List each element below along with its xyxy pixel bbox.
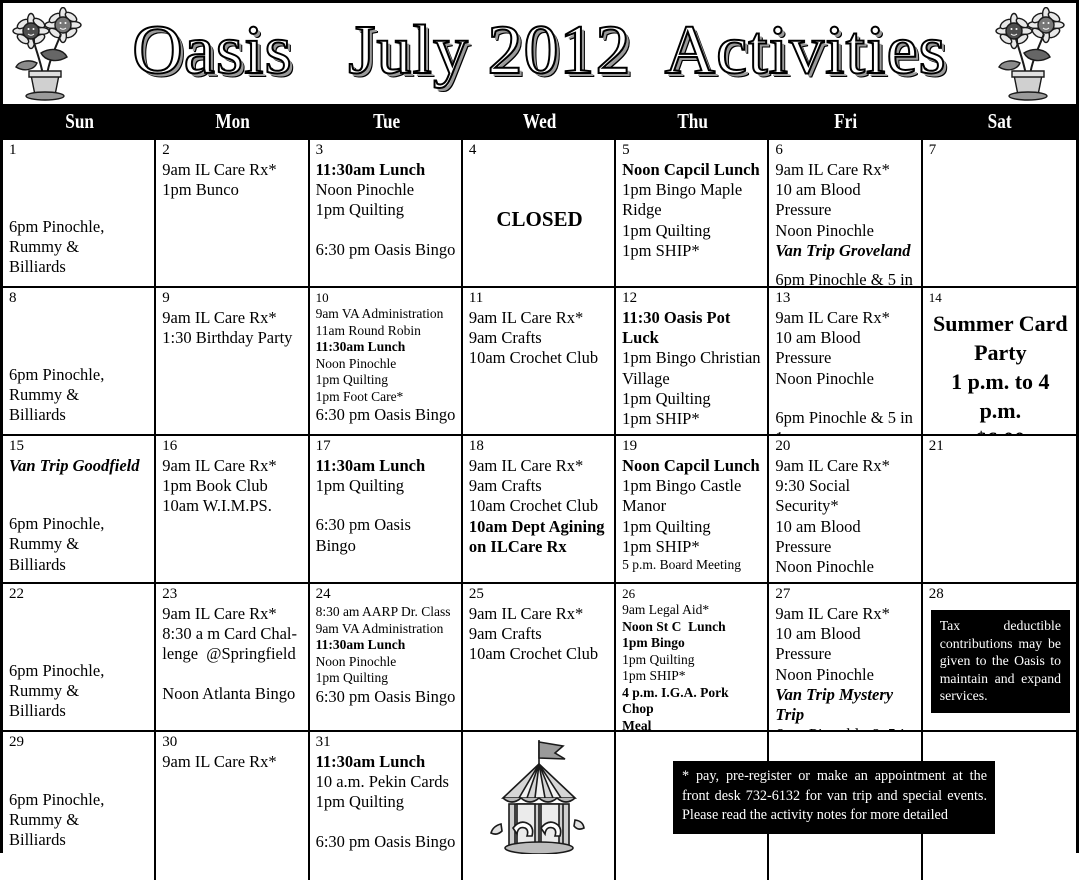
weekday-header-fri: Fri <box>783 104 909 138</box>
event-item: 1pm Quilting <box>622 389 763 409</box>
event-item: 9am IL Care Rx* <box>775 308 916 328</box>
calendar-day-cell-2[interactable]: 29am IL Care Rx*1pm Bunco <box>156 140 309 288</box>
day-number: 31 <box>316 734 457 751</box>
event-item: 6pm Pinochle, Rummy & <box>9 661 150 701</box>
event-item: 9am Legal Aid* <box>622 602 763 619</box>
event-item: 11:30am Lunch <box>316 339 457 356</box>
event-item: Billiards <box>9 701 150 721</box>
day-number: 28 <box>929 586 1072 603</box>
event-spacer <box>316 496 457 515</box>
event-item: Meal <box>622 718 763 733</box>
special-event-block: Summer CardParty1 p.m. to 4 p.m.$6.00 <box>929 309 1072 436</box>
event-list: Noon Capcil Lunch1pm Bingo MapleRidge1pm… <box>622 160 763 261</box>
event-item: Billiards <box>9 257 150 277</box>
day-number: 26 <box>622 586 763 601</box>
event-item: 9am IL Care Rx* <box>775 604 916 624</box>
event-item: 9am IL Care Rx* <box>775 456 916 476</box>
event-item: 11:30am Lunch <box>316 752 457 772</box>
event-list: 11:30 Oasis Pot Luck1pm Bingo ChristianV… <box>622 308 763 429</box>
event-item: 4 p.m. I.G.A. Pork Chop <box>622 685 763 718</box>
calendar-day-cell-21[interactable]: 21 <box>923 436 1076 584</box>
closed-label: CLOSED <box>469 207 610 232</box>
sunflower-icon-right <box>990 7 1072 101</box>
event-item: 9am IL Care Rx* <box>162 456 303 476</box>
event-item: 9am Crafts <box>469 328 610 348</box>
calendar-day-cell-empty[interactable] <box>463 732 616 880</box>
event-item: 1pm SHIP* <box>622 409 763 429</box>
event-spacer <box>9 752 150 771</box>
event-item: 1pm Quilting <box>316 476 457 496</box>
donation-note-box: Tax deductible contributions may be give… <box>931 610 1070 713</box>
calendar-day-cell-29[interactable]: 296pm Pinochle, Rummy &Billiards <box>3 732 156 880</box>
event-list: 9am IL Care Rx*10 am Blood PressureNoon … <box>775 160 916 288</box>
day-number: 4 <box>469 142 610 159</box>
event-item: Noon Pinochle <box>775 221 916 241</box>
calendar-day-cell-25[interactable]: 259am IL Care Rx*9am Crafts10am Crochet … <box>463 584 616 732</box>
event-list: 6pm Pinochle, Rummy &Billiards <box>9 752 150 851</box>
event-item: 1pm Quilting <box>622 517 763 537</box>
event-item: 6:30 pm Oasis <box>316 515 457 535</box>
event-spacer <box>9 308 150 327</box>
event-item: Noon St C Lunch <box>622 619 763 636</box>
day-number: 30 <box>162 734 303 751</box>
event-item: on ILCare Rx <box>469 537 610 557</box>
event-item: Noon Pinochle <box>316 654 457 671</box>
weekday-header-sat: Sat <box>936 104 1062 138</box>
day-number: 15 <box>9 438 150 455</box>
calendar-day-cell-4[interactable]: 4CLOSED <box>463 140 616 288</box>
event-item: 10 am Blood Pressure <box>775 328 916 368</box>
event-list: 11:30am Lunch1pm Quilting6:30 pm OasisBi… <box>316 456 457 556</box>
event-item: 1pm SHIP* <box>622 668 763 685</box>
weekday-header-thu: Thu <box>630 104 756 138</box>
calendar-day-cell-26[interactable]: 269am Legal Aid*Noon St C Lunch1pm Bingo… <box>616 584 769 732</box>
day-number: 16 <box>162 438 303 455</box>
day-number: 19 <box>622 438 763 455</box>
day-number: 10 <box>316 290 457 305</box>
event-list: 6pm Pinochle, Rummy &Billiards <box>9 160 150 278</box>
event-item: 6pm Pinochle, Rummy & <box>9 790 150 830</box>
event-list: 6pm Pinochle, Rummy &Billiards <box>9 308 150 426</box>
event-list: 9am IL Care Rx*9am Crafts10am Crochet Cl… <box>469 604 610 665</box>
event-item: 10am Crochet Club <box>469 348 610 368</box>
event-item: 1pm Bingo Christian <box>622 348 763 368</box>
event-item: 1pm Quilting <box>622 652 763 669</box>
calendar-day-cell-27[interactable]: 279am IL Care Rx*10 am Blood PressureNoo… <box>769 584 922 732</box>
event-item: 6pm Pinochle & 5 in 1 <box>775 725 916 732</box>
event-item: Noon Capcil Lunch <box>622 456 763 476</box>
event-item: 6pm Pinochle & 5 in 1 <box>775 270 916 288</box>
weekday-header-mon: Mon <box>170 104 296 138</box>
day-number: 5 <box>622 142 763 159</box>
event-item: 10 am Blood Pressure <box>775 180 916 220</box>
event-item: 6:30 pm Oasis Bingo <box>316 832 457 852</box>
special-event-line: 1 p.m. to 4 p.m. <box>929 367 1072 425</box>
event-item: 9am VA Administration <box>316 621 457 638</box>
event-list: 9am Legal Aid*Noon St C Lunch1pm Bingo1p… <box>622 602 763 732</box>
event-item: 1pm Bingo Maple <box>622 180 763 200</box>
event-item: 10am Crochet Club <box>469 496 610 516</box>
day-number: 12 <box>622 290 763 307</box>
calendar-day-cell-30[interactable]: 309am IL Care Rx* <box>156 732 309 880</box>
event-list: 9am IL Care Rx*1pm Book Club10am W.I.M.P… <box>162 456 303 517</box>
event-item: 9am Crafts <box>469 624 610 644</box>
event-spacer <box>9 346 150 365</box>
event-spacer <box>9 198 150 217</box>
calendar-day-cell-10[interactable]: 109am VA Administration11am Round Robin1… <box>310 288 463 436</box>
day-number: 25 <box>469 586 610 603</box>
event-spacer <box>9 623 150 642</box>
day-number: 18 <box>469 438 610 455</box>
calendar-day-cell-12[interactable]: 1211:30 Oasis Pot Luck1pm Bingo Christia… <box>616 288 769 436</box>
event-item: 10 am Blood Pressure <box>775 624 916 664</box>
calendar-day-cell-23[interactable]: 239am IL Care Rx*8:30 a m Card Chal-leng… <box>156 584 309 732</box>
event-item: 1pm Quilting <box>316 200 457 220</box>
event-spacer <box>316 813 457 832</box>
event-item: 11:30am Lunch <box>316 160 457 180</box>
event-item: 9am IL Care Rx* <box>469 456 610 476</box>
day-number: 1 <box>9 142 150 159</box>
calendar-banner: Oasis July 2012 Activities <box>3 3 1076 104</box>
event-item: 11am Round Robin <box>316 323 457 340</box>
event-item: Ridge <box>622 200 763 220</box>
event-item: 11:30am Lunch <box>316 456 457 476</box>
day-number: 20 <box>775 438 916 455</box>
calendar-day-cell-5[interactable]: 5Noon Capcil Lunch1pm Bingo MapleRidge1p… <box>616 140 769 288</box>
event-item: 1pm Bunco <box>162 180 303 200</box>
event-item: 8:30 am AARP Dr. Class <box>316 604 457 621</box>
event-spacer <box>9 642 150 661</box>
event-list: 9am IL Care Rx*9am Crafts10am Crochet Cl… <box>469 308 610 369</box>
event-item: Billiards <box>9 830 150 850</box>
event-item: Noon Pinochle <box>775 665 916 685</box>
event-item: 9am IL Care Rx* <box>469 604 610 624</box>
calendar-day-cell-11[interactable]: 119am IL Care Rx*9am Crafts10am Crochet … <box>463 288 616 436</box>
calendar-day-cell-9[interactable]: 99am IL Care Rx*1:30 Birthday Party <box>156 288 309 436</box>
event-list: 11:30am Lunch10 a.m. Pekin Cards1pm Quil… <box>316 752 457 852</box>
event-spacer <box>9 160 150 179</box>
event-spacer <box>9 604 150 623</box>
event-item: Bingo <box>316 536 457 556</box>
event-list: 9am IL Care Rx*9am Crafts10am Crochet Cl… <box>469 456 610 557</box>
calendar-day-cell-14[interactable]: 14Summer CardParty1 p.m. to 4 p.m.$6.00 <box>923 288 1076 436</box>
day-number: 2 <box>162 142 303 159</box>
event-spacer <box>9 179 150 198</box>
event-item: Van Trip Groveland <box>775 241 916 261</box>
event-item: 1pm Quilting <box>316 792 457 812</box>
event-item: 5 p.m. Board Meeting <box>622 557 763 574</box>
event-item: 9am IL Care Rx* <box>775 160 916 180</box>
event-item: 1pm SHIP* <box>622 537 763 557</box>
event-item: Billiards <box>9 405 150 425</box>
event-item: 9am IL Care Rx* <box>162 308 303 328</box>
event-spacer <box>316 221 457 240</box>
event-list: Noon Capcil Lunch1pm Bingo CastleManor1p… <box>622 456 763 574</box>
carousel-icon <box>479 736 599 854</box>
event-item: Van Trip Mystery Trip <box>775 685 916 725</box>
event-item: 1pm Quilting <box>622 221 763 241</box>
day-number: 11 <box>469 290 610 307</box>
event-item: 6pm Pinochle & 5 in 1 <box>775 408 916 436</box>
event-item: lenge @Springfield <box>162 644 303 664</box>
event-list: 9am IL Care Rx*8:30 a m Card Chal-lenge … <box>162 604 303 704</box>
calendar-day-cell-31[interactable]: 3111:30am Lunch10 a.m. Pekin Cards1pm Qu… <box>310 732 463 880</box>
calendar-day-cell-24[interactable]: 248:30 am AARP Dr. Class9am VA Administr… <box>310 584 463 732</box>
day-number: 6 <box>775 142 916 159</box>
day-number: 3 <box>316 142 457 159</box>
event-list: 8:30 am AARP Dr. Class9am VA Administrat… <box>316 604 457 707</box>
event-item: 11:30 Oasis Pot Luck <box>622 308 763 348</box>
event-item: 9am VA Administration <box>316 306 457 323</box>
event-item: Noon Pinochle <box>316 356 457 373</box>
calendar-day-cell-15[interactable]: 15Van Trip Goodfield6pm Pinochle, Rummy … <box>3 436 156 584</box>
day-number: 27 <box>775 586 916 603</box>
event-list: 9am IL Care Rx*10 am Blood PressureNoon … <box>775 308 916 436</box>
weekday-header-row: Sun Mon Tue Wed Thu Fri Sat <box>3 104 1076 138</box>
weekday-header-sun: Sun <box>17 104 143 138</box>
calendar-day-cell-19[interactable]: 19Noon Capcil Lunch1pm Bingo CastleManor… <box>616 436 769 584</box>
event-list: 9am IL Care Rx*9:30 Social Security*10 a… <box>775 456 916 584</box>
event-item: Van Trip Goodfield <box>9 456 150 476</box>
event-list: 9am IL Care Rx*1pm Bunco <box>162 160 303 200</box>
event-item: Manor <box>622 496 763 516</box>
event-spacer <box>9 495 150 514</box>
calendar-day-cell-28[interactable]: 28Tax deductible contributions may be gi… <box>923 584 1076 732</box>
event-item: 1pm Foot Care* <box>316 389 457 406</box>
day-number: 24 <box>316 586 457 603</box>
day-number: 14 <box>929 290 1072 305</box>
event-item: 10 a.m. Pekin Cards <box>316 772 457 792</box>
calendar-day-cell-13[interactable]: 139am IL Care Rx*10 am Blood PressureNoo… <box>769 288 922 436</box>
event-item: Billiards <box>9 555 150 575</box>
day-number: 9 <box>162 290 303 307</box>
event-list: 6pm Pinochle, Rummy &Billiards <box>9 604 150 722</box>
event-spacer <box>9 327 150 346</box>
day-number: 22 <box>9 586 150 603</box>
calendar-day-cell-17[interactable]: 1711:30am Lunch1pm Quilting6:30 pm Oasis… <box>310 436 463 584</box>
event-item: 10 am Blood Pressure <box>775 517 916 557</box>
event-item: 9am Crafts <box>469 476 610 496</box>
event-item: 10am W.I.M.PS. <box>162 496 303 516</box>
event-item: Noon Atlanta Bingo <box>162 684 303 704</box>
event-item: Noon Pinochle <box>775 557 916 577</box>
special-event-line: $6.00 <box>929 425 1072 436</box>
calendar-day-cell-20[interactable]: 209am IL Care Rx*9:30 Social Security*10… <box>769 436 922 584</box>
calendar-day-cell-1[interactable]: 16pm Pinochle, Rummy &Billiards <box>3 140 156 288</box>
page-title: Oasis July 2012 Activities <box>132 16 947 92</box>
event-spacer <box>9 771 150 790</box>
event-item: 6:30 pm Oasis Bingo <box>316 240 457 260</box>
day-number: 21 <box>929 438 1072 455</box>
event-item: 6pm Pinochle, Rummy & <box>9 514 150 554</box>
event-item: Noon Pinochle <box>775 369 916 389</box>
day-number: 8 <box>9 290 150 307</box>
event-spacer <box>775 261 916 270</box>
event-item: 1:30 Birthday Party <box>162 328 303 348</box>
event-spacer <box>775 577 916 584</box>
day-number: 29 <box>9 734 150 751</box>
day-number: 17 <box>316 438 457 455</box>
event-list: 9am VA Administration11am Round Robin11:… <box>316 306 457 425</box>
calendar-day-cell-22[interactable]: 226pm Pinochle, Rummy &Billiards <box>3 584 156 732</box>
event-item: 6pm Pinochle, Rummy & <box>9 217 150 257</box>
event-item: 11:30am Lunch <box>316 637 457 654</box>
calendar-day-cell-7[interactable]: 7 <box>923 140 1076 288</box>
calendar-day-cell-18[interactable]: 189am IL Care Rx*9am Crafts10am Crochet … <box>463 436 616 584</box>
event-item: 1pm Bingo <box>622 635 763 652</box>
event-list: 9am IL Care Rx* <box>162 752 303 772</box>
special-event-line: Party <box>929 338 1072 367</box>
event-item: Village <box>622 369 763 389</box>
calendar-day-cell-8[interactable]: 86pm Pinochle, Rummy &Billiards <box>3 288 156 436</box>
calendar-day-cell-6[interactable]: 69am IL Care Rx*10 am Blood PressureNoon… <box>769 140 922 288</box>
event-list: 11:30am LunchNoon Pinochle1pm Quilting6:… <box>316 160 457 260</box>
event-item: 1pm Bingo Castle <box>622 476 763 496</box>
event-item: 10am Crochet Club <box>469 644 610 664</box>
event-item: 9am IL Care Rx* <box>469 308 610 328</box>
event-spacer <box>9 476 150 495</box>
event-list: 9am IL Care Rx*10 am Blood PressureNoon … <box>775 604 916 732</box>
event-item: 1pm Quilting <box>316 670 457 687</box>
event-item: 9am IL Care Rx* <box>162 160 303 180</box>
day-number: 13 <box>775 290 916 307</box>
event-item: 1pm SHIP* <box>622 241 763 261</box>
event-item: 9:30 Social Security* <box>775 476 916 516</box>
weekday-header-wed: Wed <box>477 104 603 138</box>
calendar-day-cell-16[interactable]: 169am IL Care Rx*1pm Book Club10am W.I.M… <box>156 436 309 584</box>
event-item: Noon Pinochle <box>316 180 457 200</box>
event-spacer <box>775 389 916 408</box>
weekday-header-tue: Tue <box>323 104 449 138</box>
event-item: 1pm Book Club <box>162 476 303 496</box>
day-number: 23 <box>162 586 303 603</box>
event-item: 1pm Quilting <box>316 372 457 389</box>
sunflower-icon-left <box>7 7 89 101</box>
event-item: 9am IL Care Rx* <box>162 604 303 624</box>
event-item: 6pm Pinochle, Rummy & <box>9 365 150 405</box>
calendar-day-cell-3[interactable]: 311:30am LunchNoon Pinochle1pm Quilting6… <box>310 140 463 288</box>
event-spacer <box>162 665 303 684</box>
event-list: 9am IL Care Rx*1:30 Birthday Party <box>162 308 303 348</box>
event-item: 10am Dept Agining <box>469 517 610 537</box>
footer-note-box: * pay, pre-register or make an appointme… <box>673 761 995 834</box>
special-event-line: Summer Card <box>929 309 1072 338</box>
event-item: 6:30 pm Oasis Bingo <box>316 687 457 707</box>
event-item: Noon Capcil Lunch <box>622 160 763 180</box>
event-item: 6:30 pm Oasis Bingo <box>316 405 457 425</box>
calendar-page: Oasis July 2012 Activities <box>0 0 1079 853</box>
day-number: 7 <box>929 142 1072 159</box>
event-item: 8:30 a m Card Chal- <box>162 624 303 644</box>
event-item: 9am IL Care Rx* <box>162 752 303 772</box>
carousel-graphic <box>469 734 610 854</box>
event-list: Van Trip Goodfield6pm Pinochle, Rummy &B… <box>9 456 150 575</box>
